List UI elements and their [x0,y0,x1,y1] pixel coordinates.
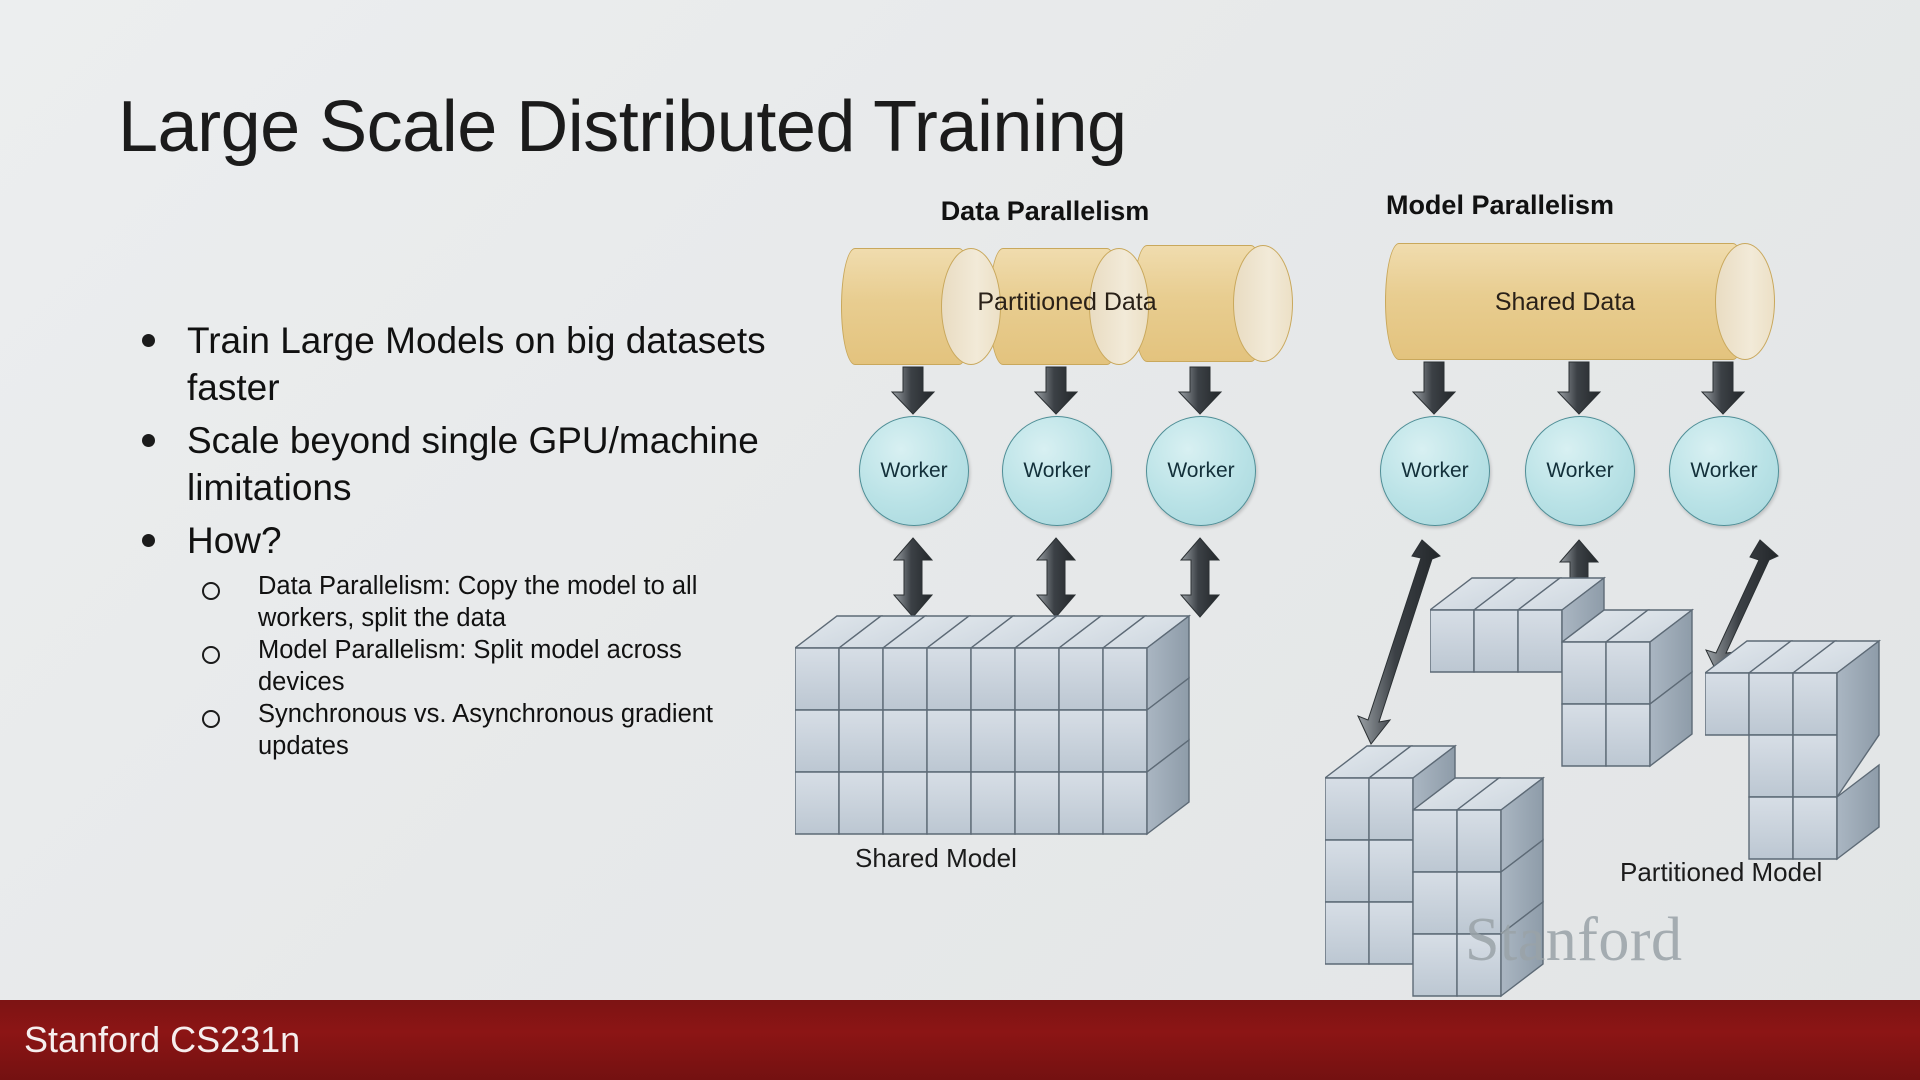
worker-label: Worker [1690,459,1757,483]
worker-node: Worker [1525,416,1635,526]
bidirectional-arrow-icon [1037,538,1075,617]
down-arrow-icon [1035,367,1077,414]
worker-node: Worker [1002,416,1112,526]
bullet-text: How? [187,518,282,565]
partitioned-data-label: Partitioned Data [841,288,1293,317]
down-arrow-icon [892,367,934,414]
shared-data-label: Shared Data [1385,288,1745,317]
worker-node: Worker [1380,416,1490,526]
slide-canvas: Large Scale Distributed Training Train L… [0,0,1920,1080]
down-arrow-icon [1413,362,1455,414]
list-item: Data Parallelism: Copy the model to all … [202,571,770,634]
list-item: Synchronous vs. Asynchronous gradient up… [202,699,770,762]
partitioned-data-cylinder-1 [841,248,1001,363]
bidirectional-arrow-icon [894,538,932,617]
footer-bar: Stanford CS231n [0,1000,1920,1080]
worker-node: Worker [1146,416,1256,526]
bullet-ring-icon [202,582,220,600]
list-item: How? [130,518,770,565]
bullet-text: Train Large Models on big datasets faste… [187,318,770,412]
bullet-dot-icon [142,534,155,547]
sub-bullet-text: Synchronous vs. Asynchronous gradient up… [258,699,770,762]
list-item: Train Large Models on big datasets faste… [130,318,770,412]
bullet-dot-icon [142,434,155,447]
bidirectional-arrow-icon [1706,540,1778,679]
sub-bullet-text: Model Parallelism: Split model across de… [258,635,770,698]
bullet-dot-icon [142,334,155,347]
page-title: Large Scale Distributed Training [118,86,1127,168]
list-item: Scale beyond single GPU/machine limitati… [130,418,770,512]
list-item: Model Parallelism: Split model across de… [202,635,770,698]
partitioned-model-cluster-a [1430,562,1750,832]
bullet-ring-icon [202,710,220,728]
footer-text: Stanford CS231n [24,1019,300,1061]
worker-label: Worker [1167,459,1234,483]
down-arrow-icon [1179,367,1221,414]
bidirectional-arrow-icon [1560,540,1598,612]
bidirectional-arrow-icon [1358,540,1440,744]
partitioned-data-cylinder-2 [989,248,1149,363]
bidirectional-arrow-icon [1181,538,1219,617]
worker-label: Worker [1023,459,1090,483]
worker-label: Worker [880,459,947,483]
shared-data-cylinder [1385,243,1775,358]
partitioned-model-cluster-b [1325,730,1645,1020]
shared-model-block [795,600,1315,840]
sub-bullet-list: Data Parallelism: Copy the model to all … [202,571,770,763]
sub-bullet-text: Data Parallelism: Copy the model to all … [258,571,770,634]
shared-model-label: Shared Model [855,843,1017,874]
worker-node: Worker [859,416,969,526]
worker-node: Worker [1669,416,1779,526]
down-arrow-icon [1558,362,1600,414]
worker-label: Worker [1401,459,1468,483]
partitioned-data-cylinder-3 [1133,245,1293,360]
stanford-watermark: Stanford [1465,905,1683,976]
worker-label: Worker [1546,459,1613,483]
model-parallelism-title: Model Parallelism [1290,190,1710,221]
bullet-ring-icon [202,646,220,664]
down-arrow-icon [1702,362,1744,414]
data-parallelism-title: Data Parallelism [905,196,1185,227]
partitioned-model-label: Partitioned Model [1620,857,1822,888]
bullet-text: Scale beyond single GPU/machine limitati… [187,418,770,512]
bullet-list: Train Large Models on big datasets faste… [130,318,770,764]
partitioned-model-cluster-c [1705,625,1920,925]
